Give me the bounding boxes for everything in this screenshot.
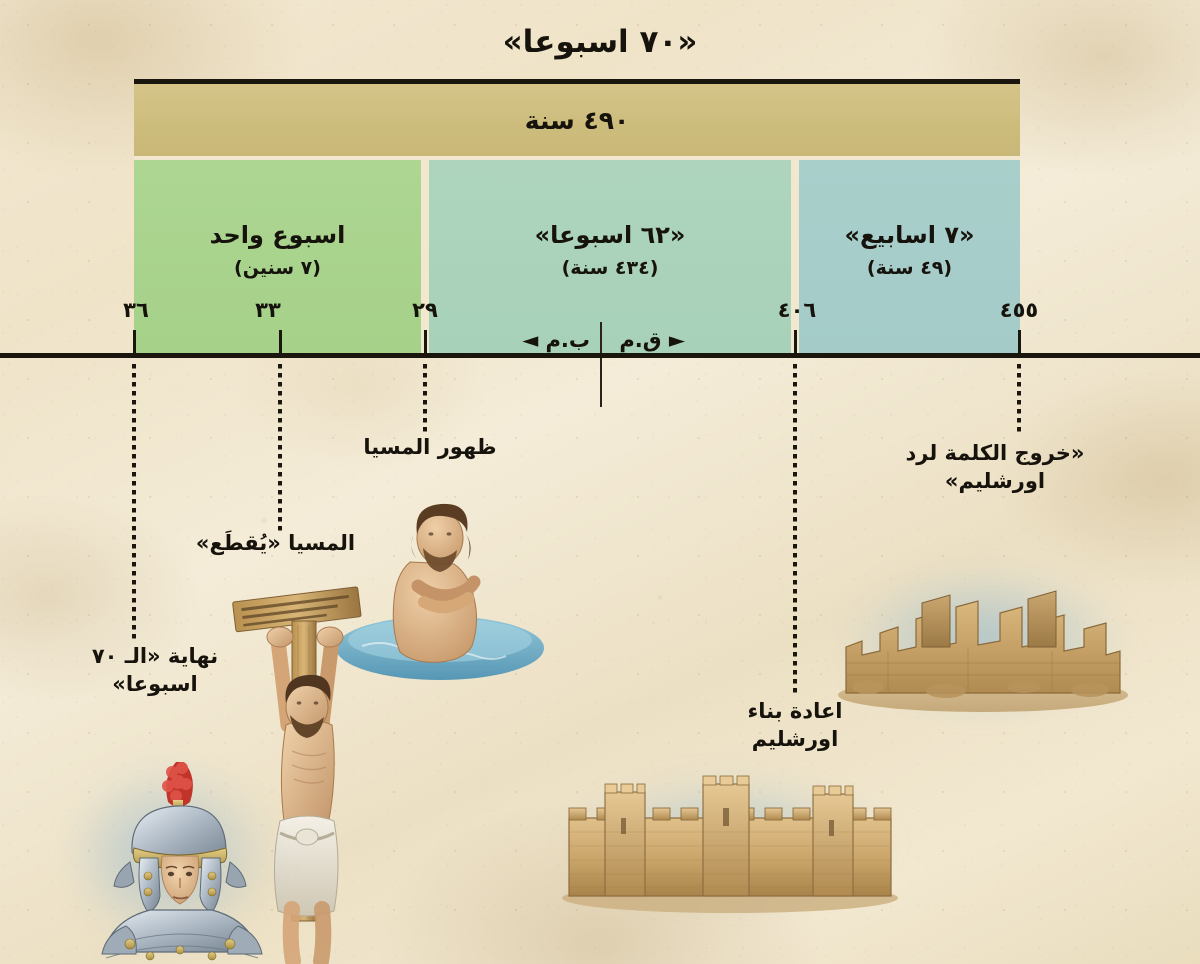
- tick-label-455: ٤٥٥: [1000, 298, 1038, 322]
- tick-mark-29: [424, 330, 427, 354]
- segment-7-weeks-subtitle: (٤٩ سنة): [799, 257, 1020, 279]
- era-marker-row: ب.م ◄ ► ق.م: [134, 324, 1020, 352]
- page-title: «٧٠ اسبوعا»: [0, 24, 1200, 60]
- total-years-band: ٤٩٠ سنة: [134, 84, 1020, 156]
- tick-label-406: ٤٠٦: [778, 298, 816, 322]
- segment-62-weeks-subtitle: (٤٣٤ سنة): [429, 257, 791, 279]
- total-years-label: ٤٩٠ سنة: [525, 106, 629, 135]
- tick-label-29: ٢٩: [412, 298, 438, 322]
- leader-line-word-to-restore: [1017, 364, 1021, 434]
- jerusalem-walls-illustration: [555, 770, 905, 915]
- segment-7-weeks-title: «٧ اسابيع»: [799, 222, 1020, 250]
- segment-one-week-subtitle: (٧ سنين): [134, 257, 421, 279]
- tick-mark-406: [794, 330, 797, 354]
- timeline-poster: «٧٠ اسبوعا» ٤٩٠ سنة اسبوع واحد (٧ سنين) …: [0, 0, 1200, 964]
- era-label-bc: ► ق.م: [619, 328, 685, 352]
- leader-line-messiah-cut-off: [278, 364, 282, 532]
- tick-label-33: ٣٣: [255, 298, 281, 322]
- roman-soldier-illustration: [78, 752, 288, 964]
- tick-mark-455: [1018, 330, 1021, 354]
- tick-label-36: ٣٦: [123, 298, 149, 322]
- era-label-ad: ب.م ◄: [522, 328, 590, 352]
- leader-line-jerusalem-rebuilt: [793, 364, 797, 694]
- leader-line-messiah-appears: [423, 364, 427, 432]
- segment-62-weeks-title: «٦٢ اسبوعا»: [429, 222, 791, 250]
- segment-one-week-title: اسبوع واحد: [134, 222, 421, 250]
- tick-mark-36: [133, 330, 136, 354]
- jerusalem-ruins-illustration: [828, 555, 1138, 715]
- era-divider-line: [600, 322, 602, 407]
- leader-line-end-of-70-weeks: [132, 364, 136, 642]
- tick-mark-33: [279, 330, 282, 354]
- callout-word-to-restore: «خروج الكلمة لرد اورشليم»: [885, 440, 1105, 495]
- callout-messiah-appears: ظهور المسيا: [330, 434, 530, 462]
